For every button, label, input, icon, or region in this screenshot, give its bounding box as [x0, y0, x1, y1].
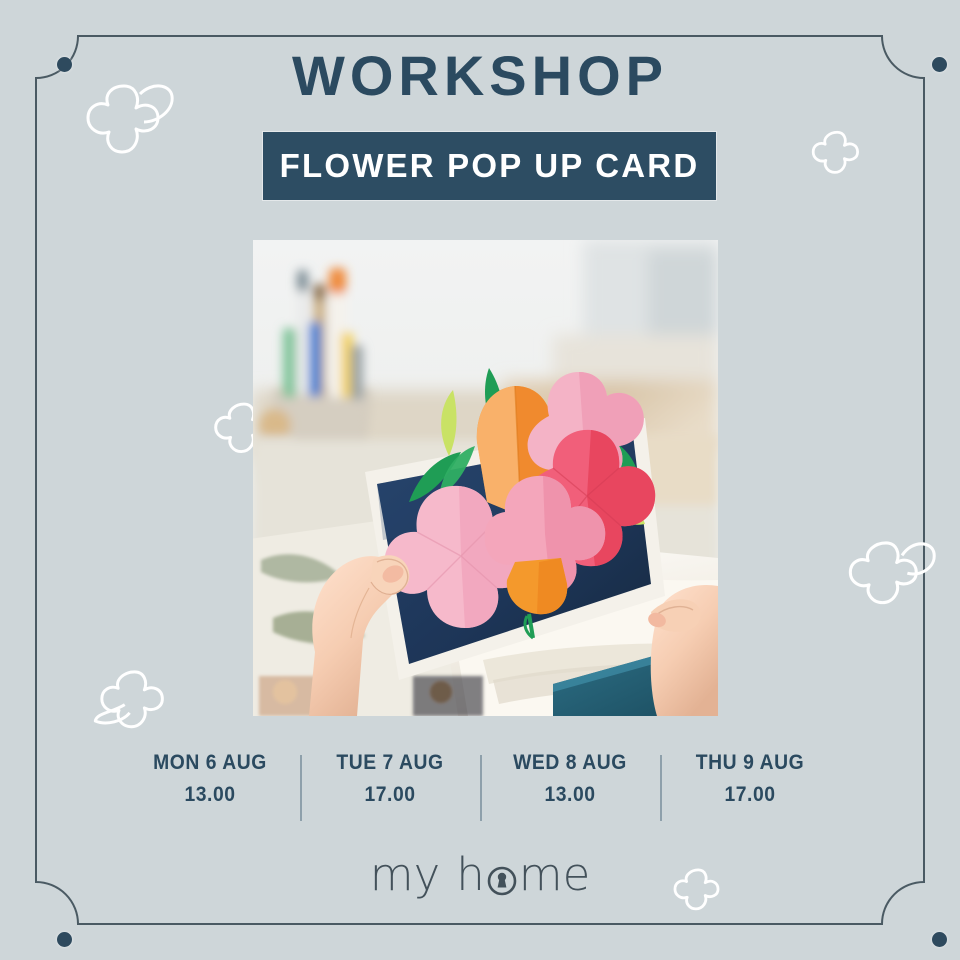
page-title: WORKSHOP [0, 47, 960, 106]
flower-mid-right-icon [845, 530, 943, 620]
session-1-day: MON 6 AUG [127, 752, 293, 773]
brand-logo: my h me [0, 852, 960, 897]
poster-canvas: WORKSHOP FLOWER POP UP CARD [0, 0, 960, 960]
session-2-time: 17.00 [307, 784, 473, 805]
corner-dot-bottom-right [932, 932, 947, 947]
keyhole-o-icon [485, 852, 519, 897]
session-3-time: 13.00 [487, 784, 653, 805]
corner-dot-bottom-left [57, 932, 72, 947]
subtitle-banner-text: FLOWER POP UP CARD [280, 147, 700, 185]
logo-letter-h: h [456, 852, 485, 897]
schedule-session-2[interactable]: TUE 7 AUG 17.00 [300, 752, 480, 824]
workshop-photo-illustration [253, 240, 718, 716]
logo-word-my: my [370, 852, 440, 897]
session-4-day: THU 9 AUG [667, 752, 833, 773]
schedule-session-1[interactable]: MON 6 AUG 13.00 [120, 752, 300, 824]
session-2-day: TUE 7 AUG [307, 752, 473, 773]
schedule-session-4[interactable]: THU 9 AUG 17.00 [660, 752, 840, 824]
workshop-photo [253, 240, 718, 716]
flower-top-right-icon [806, 124, 872, 186]
logo-word-me: me [519, 852, 591, 897]
schedule-row: MON 6 AUG 13.00 TUE 7 AUG 17.00 WED 8 AU… [120, 752, 840, 824]
session-4-time: 17.00 [667, 784, 833, 805]
session-1-time: 13.00 [127, 784, 293, 805]
schedule-session-3[interactable]: WED 8 AUG 13.00 [480, 752, 660, 824]
flower-bottom-left-icon [92, 662, 182, 744]
subtitle-banner: FLOWER POP UP CARD [263, 132, 716, 200]
session-3-day: WED 8 AUG [487, 752, 653, 773]
